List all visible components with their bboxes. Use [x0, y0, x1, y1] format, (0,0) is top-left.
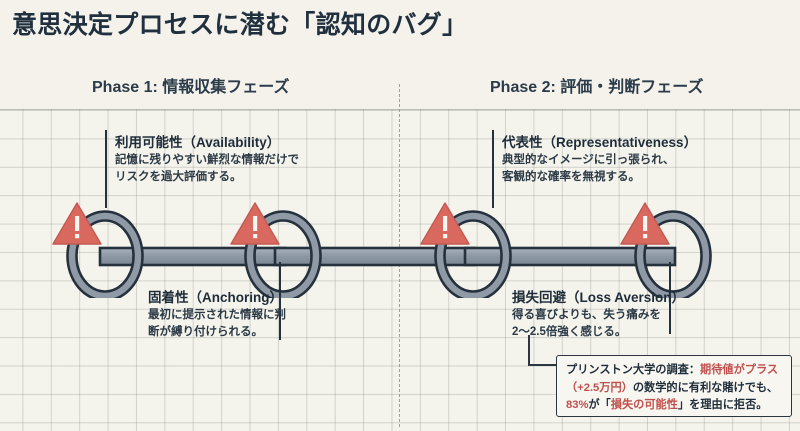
bias-heading: 損失回避（Loss Aversion）: [512, 288, 685, 307]
fact-line-3: 83%が「損失の可能性」を理由に拒否。: [566, 397, 783, 415]
bias-line: 客観的な確率を無視する。: [502, 169, 697, 186]
bias-line: 記憶に残りやすい鮮烈な情報だけで: [115, 152, 299, 169]
fact-line-3-red-phrase: 損失の可能性: [611, 399, 678, 411]
bias-line: 最初に提示された情報に判: [148, 307, 286, 324]
bias-note-anchoring: 固着性（Anchoring） 最初に提示された情報に判 断が縛り付けられる。: [148, 288, 286, 340]
fact-line-1: プリンストン大学の調査：期待値がプラス: [566, 362, 783, 380]
bias-line: 断が縛り付けられる。: [148, 324, 286, 341]
chain-bars: [100, 248, 675, 265]
research-fact-box: プリンストン大学の調査：期待値がプラス （+2.5万円）の数学的に有利な賭けでも…: [556, 355, 792, 417]
fact-line-1-red: 期待値がプラス: [700, 364, 778, 376]
fact-line-2: （+2.5万円）の数学的に有利な賭けでも、: [566, 380, 783, 398]
bias-note-representativeness: 代表性（Representativeness） 典型的なイメージに引っ張られ、 …: [502, 133, 697, 185]
bias-note-loss-aversion: 損失回避（Loss Aversion） 得る喜びよりも、失う痛みを 2〜2.5倍…: [512, 288, 685, 340]
phase-1-label: Phase 1: 情報収集フェーズ: [92, 73, 289, 97]
bias-line: 得る喜びよりも、失う痛みを: [512, 307, 685, 324]
bias-heading: 代表性（Representativeness）: [502, 133, 697, 152]
bias-heading: 固着性（Anchoring）: [148, 288, 286, 307]
fact-line-3-red-percent: 83%: [566, 399, 588, 411]
slide-canvas: 意思決定プロセスに潜む「認知のバグ」 Phase 1: 情報収集フェーズ Pha…: [0, 0, 800, 431]
leader-line-representativeness: [492, 130, 494, 208]
fact-line-2-red: （+2.5万円）: [566, 382, 633, 394]
bias-line: リスクを過大評価する。: [115, 169, 299, 186]
fact-line-3-black-a: が「: [588, 399, 610, 411]
bias-heading: 利用可能性（Availability）: [115, 133, 299, 152]
bias-note-availability: 利用可能性（Availability） 記憶に残りやすい鮮烈な情報だけで リスク…: [115, 133, 299, 185]
leader-line-availability: [105, 130, 107, 208]
page-title: 意思決定プロセスに潜む「認知のバグ」: [12, 5, 467, 41]
fact-line-1-black: プリンストン大学の調査：: [566, 364, 700, 376]
fact-line-3-black-b: 」を理由に拒否。: [678, 399, 768, 411]
fact-line-2-black: の数学的に有利な賭けでも、: [633, 382, 778, 394]
phase-2-label: Phase 2: 評価・判断フェーズ: [490, 73, 703, 97]
bias-line: 典型的なイメージに引っ張られ、: [502, 152, 697, 169]
warning-triangle-icon-group: [53, 203, 669, 244]
